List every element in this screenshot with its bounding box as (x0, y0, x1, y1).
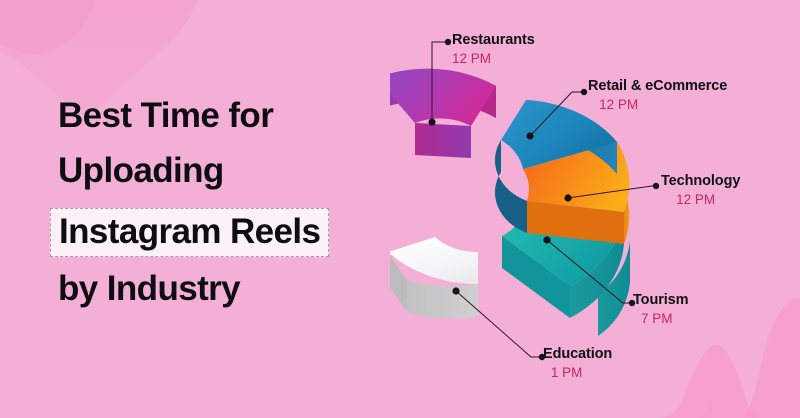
title-line-3-highlighted: Instagram Reels (50, 208, 329, 257)
leader-dot-retail-label (581, 89, 587, 95)
callout-education-time: 1 PM (543, 365, 612, 380)
leader-dot-restaurants-chart (428, 118, 435, 125)
deco-blob-topleft (0, 0, 200, 110)
callout-tourism-label: Tourism (633, 292, 688, 308)
leader-dot-technology-label (653, 183, 659, 189)
slice-restaurants-body[interactable] (390, 69, 496, 158)
title-line-1: Best Time for (58, 98, 398, 133)
callout-tourism[interactable]: Tourism 7 PM (633, 292, 688, 326)
callout-retail-time: 12 PM (588, 97, 727, 112)
callout-technology[interactable]: Technology 12 PM (661, 173, 740, 207)
leader-dot-restaurants-label (445, 39, 451, 45)
title-line-4: by Industry (58, 271, 398, 306)
leader-dot-retail-chart (526, 132, 533, 139)
callout-restaurants-label: Restaurants (452, 32, 535, 48)
callout-retail[interactable]: Retail & eCommerce 12 PM (588, 78, 727, 112)
education-side-outer (407, 280, 478, 319)
callout-technology-time: 12 PM (661, 192, 740, 207)
slice-education-body[interactable] (390, 236, 478, 319)
callout-technology-label: Technology (661, 173, 740, 189)
callout-retail-label: Retail & eCommerce (588, 78, 727, 94)
page-title: Best Time for Uploading Instagram Reels … (58, 98, 398, 306)
callout-education-label: Education (543, 346, 612, 362)
deco-blob-topleft-2 (0, 0, 96, 54)
leader-dot-technology-chart (564, 194, 571, 201)
callout-education[interactable]: Education 1 PM (543, 346, 612, 380)
callout-restaurants-time: 12 PM (452, 51, 535, 66)
title-line-2: Uploading (58, 153, 398, 188)
infographic-canvas: Best Time for Uploading Instagram Reels … (0, 0, 800, 418)
leader-dot-education-chart (452, 287, 459, 294)
callout-tourism-time: 7 PM (633, 311, 688, 326)
leader-dot-tourism-chart (543, 236, 550, 243)
restaurants-top (390, 69, 496, 126)
restaurants-side-inner (415, 123, 471, 158)
callout-restaurants[interactable]: Restaurants 12 PM (452, 32, 535, 66)
